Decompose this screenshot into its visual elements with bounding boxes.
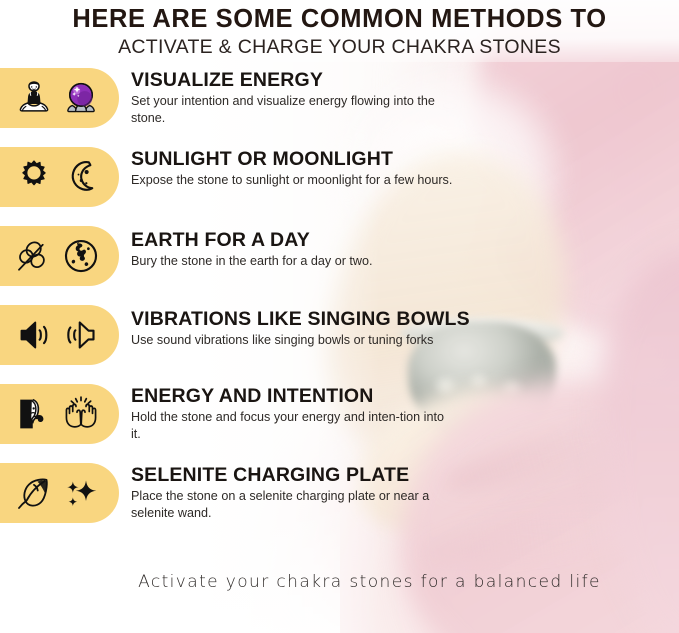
icon-pill: [0, 68, 119, 128]
infographic-content: HERE ARE SOME COMMON METHODS TO ACTIVATE…: [0, 0, 679, 633]
method-title: ENERGY AND INTENTION: [131, 386, 679, 408]
header: HERE ARE SOME COMMON METHODS TO ACTIVATE…: [0, 0, 679, 58]
speaker-muted-icon: [60, 314, 102, 356]
speaker-sound-icon: [13, 314, 55, 356]
icon-pill: [0, 226, 119, 286]
method-description: Use sound vibrations like singing bowls …: [131, 332, 453, 349]
methods-list: VISUALIZE ENERGY Set your intention and …: [0, 68, 679, 538]
icon-pill: [0, 147, 119, 207]
method-description: Place the stone on a selenite charging p…: [131, 488, 453, 521]
method-text: EARTH FOR A DAY Bury the stone in the ea…: [119, 226, 679, 269]
footer: Activate your chakra stones for a balanc…: [0, 572, 679, 592]
method-text: ENERGY AND INTENTION Hold the stone and …: [119, 384, 679, 442]
list-item: SELENITE CHARGING PLATE Place the stone …: [0, 463, 679, 538]
method-title: EARTH FOR A DAY: [131, 230, 679, 252]
method-description: Hold the stone and focus your energy and…: [131, 409, 453, 442]
icon-pill: [0, 463, 119, 523]
raised-hands-icon: [60, 393, 102, 435]
page-title: HERE ARE SOME COMMON METHODS TO: [0, 6, 679, 33]
blowing-face-icon: [13, 393, 55, 435]
method-description: Expose the stone to sunlight or moonligh…: [131, 172, 453, 189]
method-description: Set your intention and visualize energy …: [131, 93, 453, 126]
method-title: SUNLIGHT OR MOONLIGHT: [131, 149, 679, 171]
sun-icon: [13, 156, 55, 198]
method-text: SUNLIGHT OR MOONLIGHT Expose the stone t…: [119, 147, 679, 188]
feather-quill-icon: [13, 472, 55, 514]
list-item: EARTH FOR A DAY Bury the stone in the ea…: [0, 226, 679, 301]
globe-earth-icon: [60, 235, 102, 277]
method-text: VISUALIZE ENERGY Set your intention and …: [119, 68, 679, 126]
page-subtitle: ACTIVATE & CHARGE YOUR CHAKRA STONES: [0, 37, 679, 58]
list-item: VISUALIZE ENERGY Set your intention and …: [0, 68, 679, 143]
list-item: VIBRATIONS LIKE SINGING BOWLS Use sound …: [0, 305, 679, 380]
icon-pill: [0, 305, 119, 365]
list-item: SUNLIGHT OR MOONLIGHT Expose the stone t…: [0, 147, 679, 222]
crystal-ball-icon: [60, 77, 102, 119]
method-title: SELENITE CHARGING PLATE: [131, 465, 679, 487]
leaf-branch-icon: [13, 235, 55, 277]
icon-pill: [0, 384, 119, 444]
method-title: VISUALIZE ENERGY: [131, 70, 679, 92]
meditating-person-icon: [13, 77, 55, 119]
method-text: SELENITE CHARGING PLATE Place the stone …: [119, 463, 679, 521]
method-description: Bury the stone in the earth for a day or…: [131, 253, 453, 270]
method-text: VIBRATIONS LIKE SINGING BOWLS Use sound …: [119, 305, 679, 348]
crescent-moon-icon: [60, 156, 102, 198]
sparkles-icon: [60, 472, 102, 514]
footer-tagline: Activate your chakra stones for a balanc…: [138, 572, 601, 592]
method-title: VIBRATIONS LIKE SINGING BOWLS: [131, 309, 679, 331]
list-item: ENERGY AND INTENTION Hold the stone and …: [0, 384, 679, 459]
